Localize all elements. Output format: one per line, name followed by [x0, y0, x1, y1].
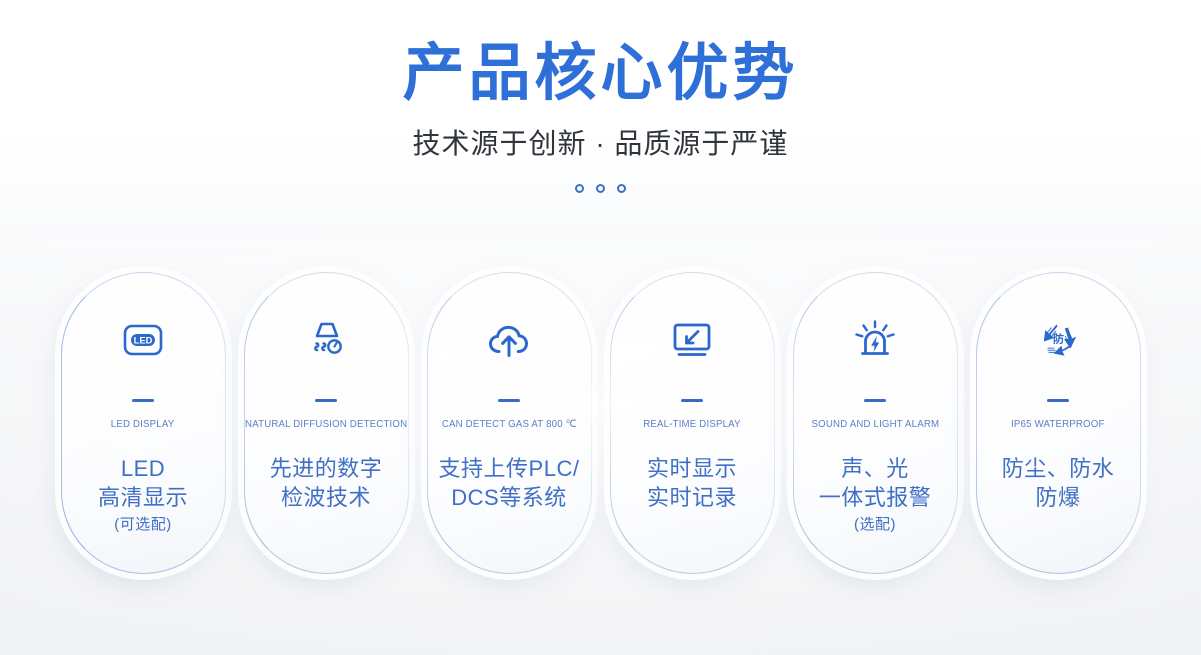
- page-subtitle: 技术源于创新 · 品质源于严谨: [0, 122, 1201, 162]
- card-caption: CAN DETECT GAS AT 800 ℃: [442, 418, 577, 430]
- card-headline-line1: 先进的数字: [270, 454, 383, 483]
- card-caption: IP65 WATERPROOF: [1011, 418, 1104, 430]
- led-badge-icon: LED: [115, 313, 171, 367]
- dot-icon: [617, 184, 626, 193]
- card-divider: [498, 399, 520, 402]
- card-headline: LED 高清显示 (可选配): [98, 454, 188, 536]
- card-headline: 支持上传PLC/ DCS等系统: [439, 454, 580, 514]
- card-divider: [1047, 399, 1069, 402]
- card-caption: REAL-TIME DISPLAY: [643, 418, 740, 430]
- decorative-dots: [0, 184, 1201, 193]
- card-headline-line1: 防尘、防水: [1002, 454, 1115, 483]
- card-divider: [681, 399, 703, 402]
- card-caption: SOUND AND LIGHT ALARM: [811, 418, 939, 430]
- card-headline-line2: 一体式报警: [819, 483, 932, 512]
- page-title: 产品核心优势: [0, 40, 1201, 108]
- dot-icon: [596, 184, 605, 193]
- card-note: (可选配): [98, 514, 188, 537]
- card-caption: LED DISPLAY: [111, 418, 175, 430]
- card-divider: [864, 399, 886, 402]
- page-background: 产品核心优势 技术源于创新 · 品质源于严谨 LED LED DISPLAY L…: [0, 0, 1201, 655]
- feature-card-protection[interactable]: 防 IP65 WATERPROOF 防尘、防水 防爆: [976, 272, 1141, 574]
- card-headline-line1: 声、光: [819, 454, 932, 483]
- card-headline: 声、光 一体式报警 (选配): [819, 454, 932, 536]
- card-headline: 先进的数字 检波技术: [270, 454, 383, 514]
- feature-card-cloud-upload[interactable]: CAN DETECT GAS AT 800 ℃ 支持上传PLC/ DCS等系统: [427, 272, 592, 574]
- dot-icon: [575, 184, 584, 193]
- feature-card-realtime-display[interactable]: REAL-TIME DISPLAY 实时显示 实时记录: [610, 272, 775, 574]
- cloud-upload-icon: [481, 313, 537, 367]
- card-headline-line2: 检波技术: [270, 483, 383, 512]
- card-headline-line1: 支持上传PLC/: [439, 454, 580, 483]
- feature-card-alarm[interactable]: SOUND AND LIGHT ALARM 声、光 一体式报警 (选配): [793, 272, 958, 574]
- feature-card-led[interactable]: LED LED DISPLAY LED 高清显示 (可选配): [61, 272, 226, 574]
- svg-text:LED: LED: [134, 334, 153, 345]
- card-divider: [132, 399, 154, 402]
- svg-text:防: 防: [1053, 332, 1064, 346]
- card-headline: 防尘、防水 防爆: [1002, 454, 1115, 514]
- feature-card-list: LED LED DISPLAY LED 高清显示 (可选配): [0, 272, 1201, 574]
- card-note: (选配): [819, 514, 932, 537]
- card-divider: [315, 399, 337, 402]
- diffusion-sensor-icon: [298, 313, 354, 367]
- protection-recycle-icon: 防: [1030, 313, 1086, 367]
- alarm-beacon-icon: [847, 313, 903, 367]
- card-caption: NATURAL DIFFUSION DETECTION: [245, 418, 407, 430]
- card-headline-line1: 实时显示: [647, 454, 737, 483]
- card-headline-line2: 实时记录: [647, 483, 737, 512]
- card-headline-line2: 防爆: [1002, 483, 1115, 512]
- feature-card-diffusion[interactable]: NATURAL DIFFUSION DETECTION 先进的数字 检波技术: [244, 272, 409, 574]
- monitor-arrow-icon: [664, 313, 720, 367]
- card-headline-line2: DCS等系统: [439, 483, 580, 512]
- card-headline: 实时显示 实时记录: [647, 454, 737, 514]
- page-header: 产品核心优势 技术源于创新 · 品质源于严谨: [0, 40, 1201, 193]
- card-headline-line2: 高清显示: [98, 483, 188, 512]
- card-headline-line1: LED: [98, 454, 188, 483]
